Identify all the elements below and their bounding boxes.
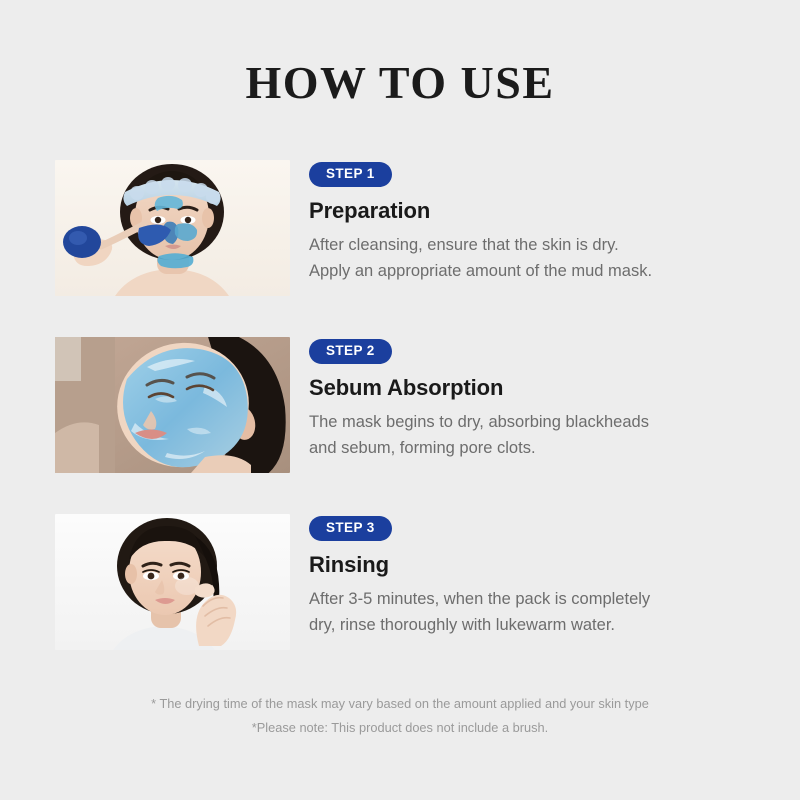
footnotes: * The drying time of the mask may vary b… (0, 692, 800, 739)
step-text-block: STEP 3 Rinsing After 3-5 minutes, when t… (290, 514, 800, 639)
page-title: HOW TO USE (0, 56, 800, 109)
footnote-drying-time: * The drying time of the mask may vary b… (0, 692, 800, 716)
step-body: The mask begins to dry, absorbing blackh… (309, 409, 800, 462)
step-heading: Sebum Absorption (309, 375, 800, 401)
step-body-line: dry, rinse thoroughly with lukewarm wate… (309, 612, 800, 639)
step-body-line: The mask begins to dry, absorbing blackh… (309, 409, 800, 436)
step-item: STEP 1 Preparation After cleansing, ensu… (0, 160, 800, 296)
step-heading: Preparation (309, 198, 800, 224)
step-badge: STEP 3 (309, 516, 392, 541)
step-body: After 3-5 minutes, when the pack is comp… (309, 586, 800, 639)
step-badge: STEP 2 (309, 339, 392, 364)
step-text-block: STEP 1 Preparation After cleansing, ensu… (290, 160, 800, 285)
step-badge: STEP 1 (309, 162, 392, 187)
steps-list: STEP 1 Preparation After cleansing, ensu… (0, 160, 800, 691)
step-body-line: Apply an appropriate amount of the mud m… (309, 258, 800, 285)
step-2-photo-face-covered-in-blue-mask (55, 337, 290, 473)
step-item: STEP 3 Rinsing After 3-5 minutes, when t… (0, 514, 800, 650)
step-body-line: After 3-5 minutes, when the pack is comp… (309, 586, 800, 613)
step-body: After cleansing, ensure that the skin is… (309, 232, 800, 285)
step-text-block: STEP 2 Sebum Absorption The mask begins … (290, 337, 800, 462)
step-body-line: After cleansing, ensure that the skin is… (309, 232, 800, 259)
step-heading: Rinsing (309, 552, 800, 578)
step-3-photo-clean-face-after-rinsing (55, 514, 290, 650)
step-item: STEP 2 Sebum Absorption The mask begins … (0, 337, 800, 473)
footnote-no-brush-included: *Please note: This product does not incl… (0, 716, 800, 740)
how-to-use-infographic: HOW TO USE (0, 0, 800, 800)
step-1-photo-applying-mud-mask-with-brush (55, 160, 290, 296)
step-body-line: and sebum, forming pore clots. (309, 435, 800, 462)
